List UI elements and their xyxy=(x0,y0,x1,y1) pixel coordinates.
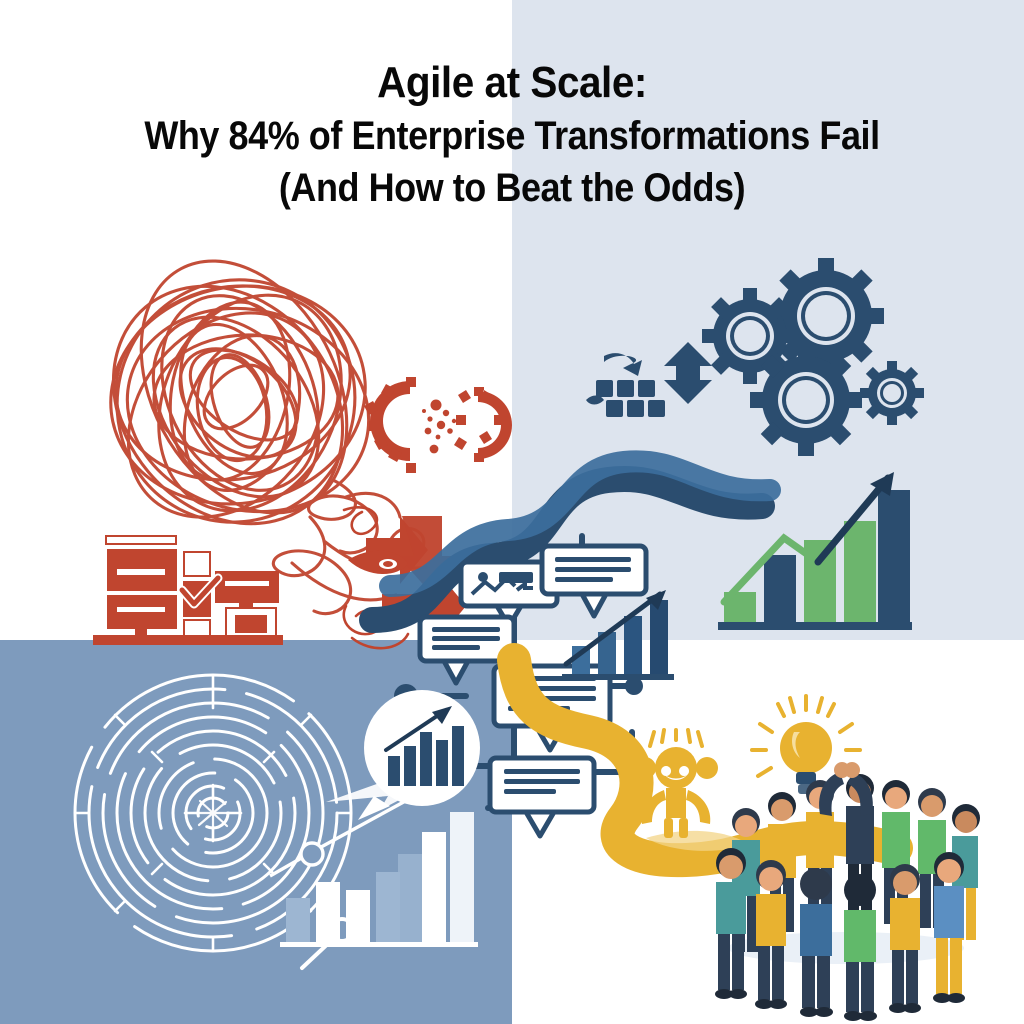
celebrating-team-group xyxy=(694,752,994,964)
infographic-poster: Agile at Scale: Why 84% of Enterprise Tr… xyxy=(0,0,1024,1024)
growth-arrow-navy-icon xyxy=(660,340,716,410)
maze-exit-marker-icon xyxy=(296,910,366,980)
red-dashboard-screens-icon xyxy=(88,528,288,644)
alignment-growth-chart xyxy=(712,470,920,638)
growth-chart-speech-bubble xyxy=(352,684,492,824)
